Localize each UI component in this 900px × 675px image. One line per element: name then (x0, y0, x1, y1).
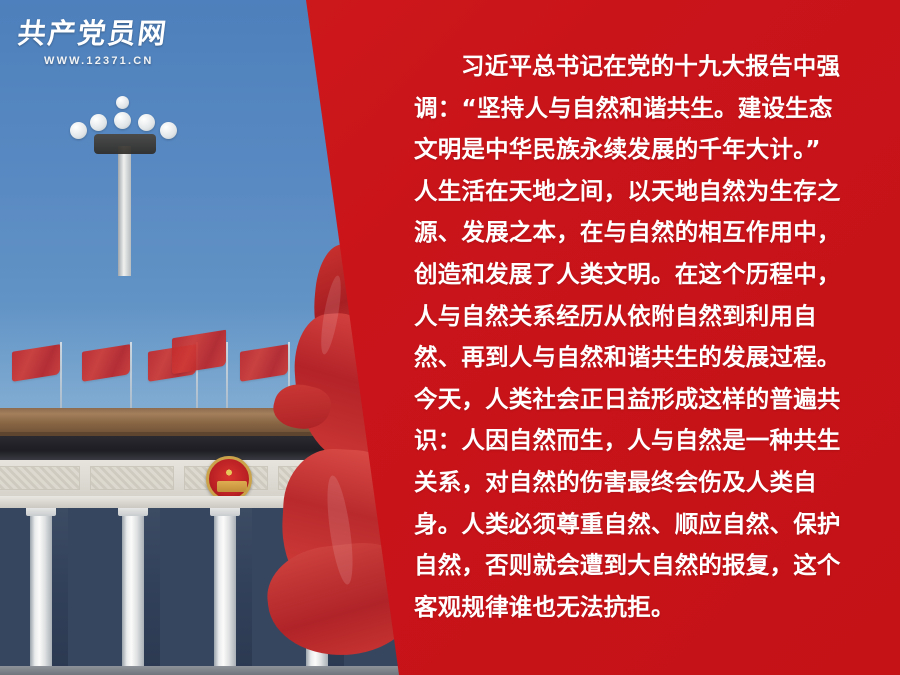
copy-line: 习近平总书记在党的十九大报告中强 (414, 46, 874, 88)
frieze-panel (90, 466, 174, 490)
copy-line: 识：人因自然而生，人与自然是一种共生 (414, 420, 874, 462)
copy-line: 人生活在天地之间，以天地自然为生存之 (414, 171, 874, 213)
copy-line: 身。人类必须尊重自然、顺应自然、保护 (414, 504, 874, 546)
lamp-post (118, 146, 131, 276)
lamp-head (94, 134, 156, 154)
copy-line: 客观规律谁也无法抗拒。 (414, 587, 874, 629)
site-logo[interactable]: 共产党员网 WWW.12371.CN (18, 12, 198, 68)
copy-line: 文明是中华民族永续发展的千年大计。” (414, 129, 874, 171)
column (30, 508, 52, 675)
logo-name-text: 共产党员网 (16, 12, 201, 52)
lamp-globe (138, 114, 155, 131)
lamp-globe (90, 114, 107, 131)
copy-line: 然、再到人与自然和谐共生的发展过程。 (414, 337, 874, 379)
quote-body: 习近平总书记在党的十九大报告中强 调：“坚持人与自然和谐共生。建设生态 文明是中… (414, 46, 874, 628)
copy-line: 源、发展之本，在与自然的相互作用中， (414, 212, 874, 254)
copy-line: 调：“坚持人与自然和谐共生。建设生态 (414, 88, 874, 130)
copy-line: 关系，对自然的伤害最终会伤及人类自 (414, 462, 874, 504)
copy-line: 人与自然关系经历从依附自然到利用自 (414, 296, 874, 338)
column (122, 508, 144, 675)
street-lamp (66, 96, 186, 276)
copy-line: 创造和发展了人类文明。在这个历程中， (414, 254, 874, 296)
logo-url-text: WWW.12371.CN (44, 55, 198, 67)
copy-line: 今天，人类社会正日益形成这样的普遍共 (414, 379, 874, 421)
frieze-panel (0, 466, 80, 490)
lamp-globe (116, 96, 129, 109)
lamp-globe (70, 122, 87, 139)
column (214, 508, 236, 675)
building-plinth (0, 666, 420, 675)
lamp-globe (160, 122, 177, 139)
copy-line: 自然，否则就会遭到大自然的报复，这个 (414, 545, 874, 587)
lamp-globe (114, 112, 131, 129)
poster-root: 共产党员网 WWW.12371.CN 习近平总书记在党的十九大报告中强 调：“坚… (0, 0, 900, 675)
